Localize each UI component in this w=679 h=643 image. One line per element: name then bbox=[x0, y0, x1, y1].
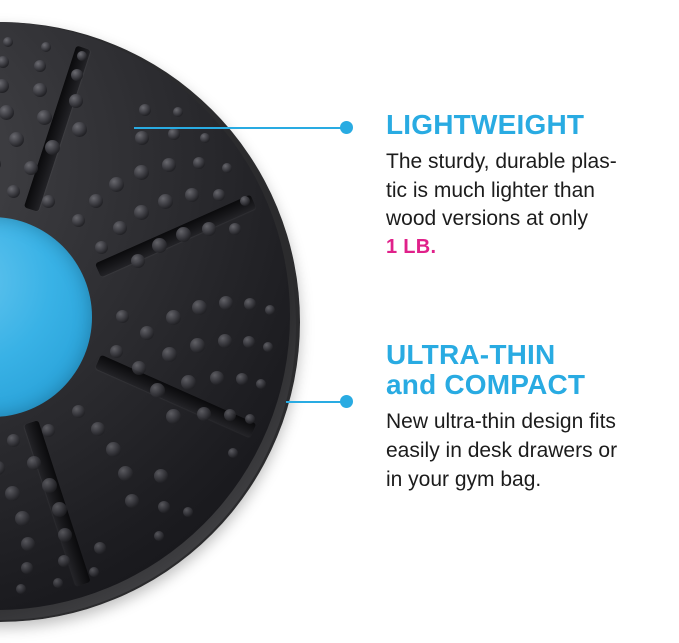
board-nub bbox=[24, 161, 38, 175]
callout-body-ultrathin: New ultra-thin design fits easily in des… bbox=[386, 408, 678, 494]
board-nub bbox=[256, 379, 266, 389]
board-nub bbox=[210, 371, 224, 385]
board-nub bbox=[125, 494, 139, 508]
board-nub bbox=[69, 94, 83, 108]
board-nub bbox=[202, 222, 216, 236]
board-nub bbox=[0, 157, 1, 171]
board-nub bbox=[0, 105, 14, 120]
board-center-dome bbox=[0, 217, 92, 417]
board-nub bbox=[139, 104, 151, 116]
board-nub bbox=[244, 298, 256, 310]
balance-board-image bbox=[0, 22, 300, 622]
board-nub bbox=[219, 296, 233, 310]
board-nub bbox=[106, 442, 121, 457]
board-nub bbox=[9, 132, 24, 147]
board-nub bbox=[181, 375, 196, 390]
board-nub bbox=[240, 196, 250, 206]
board-nub bbox=[228, 448, 238, 458]
callout-heading-ultrathin-line1: ULTRA-THIN bbox=[386, 339, 555, 370]
board-nub bbox=[0, 56, 9, 68]
board-nub bbox=[42, 195, 55, 208]
board-nub bbox=[166, 310, 181, 325]
board-nub bbox=[229, 223, 241, 235]
board-nub bbox=[176, 227, 191, 242]
board-nub bbox=[213, 189, 225, 201]
board-nub bbox=[58, 555, 70, 567]
board-nub bbox=[218, 334, 232, 348]
board-nub bbox=[192, 300, 207, 315]
board-nub bbox=[21, 562, 33, 574]
board-nub bbox=[7, 434, 20, 447]
board-nub bbox=[15, 511, 30, 526]
board-nub bbox=[53, 578, 63, 588]
board-nub bbox=[116, 310, 129, 323]
board-nub bbox=[131, 254, 145, 268]
board-nub bbox=[166, 409, 181, 424]
board-nub bbox=[197, 407, 211, 421]
board-groove bbox=[95, 355, 256, 438]
board-nub bbox=[265, 305, 275, 315]
board-nub bbox=[89, 567, 99, 577]
board-nub bbox=[134, 205, 149, 220]
board-nub bbox=[168, 128, 180, 140]
board-nub bbox=[94, 542, 106, 554]
board-nub bbox=[72, 214, 85, 227]
board-nub bbox=[34, 60, 46, 72]
board-nub bbox=[72, 122, 87, 137]
board-nub bbox=[193, 157, 205, 169]
callout-dot-ultrathin bbox=[340, 395, 353, 408]
board-nub bbox=[236, 373, 248, 385]
callout-ultrathin: ULTRA-THIN and COMPACT New ultra-thin de… bbox=[386, 340, 678, 494]
board-nub bbox=[3, 37, 13, 47]
board-nub bbox=[132, 361, 146, 375]
board-nub bbox=[89, 194, 103, 208]
board-nub bbox=[91, 422, 105, 436]
callout-body-lightweight: The sturdy, durable plas- tic is much li… bbox=[386, 148, 678, 234]
board-nub bbox=[118, 466, 133, 481]
board-nub bbox=[77, 51, 87, 61]
board-nub bbox=[158, 501, 170, 513]
callout-heading-lightweight: LIGHTWEIGHT bbox=[386, 110, 678, 140]
board-nub bbox=[0, 461, 5, 475]
callout-emphasis-weight: 1 LB. bbox=[386, 236, 678, 259]
board-nub bbox=[95, 241, 108, 254]
product-infographic: LIGHTWEIGHT The sturdy, durable plas- ti… bbox=[0, 0, 679, 643]
board-nub bbox=[263, 342, 273, 352]
board-nub bbox=[109, 177, 124, 192]
board-nub bbox=[33, 83, 47, 97]
board-nub bbox=[162, 158, 176, 172]
board-nub bbox=[0, 79, 9, 93]
callout-heading-ultrathin-line2: and COMPACT bbox=[386, 370, 678, 400]
board-nub bbox=[42, 424, 55, 437]
board-nub bbox=[7, 185, 20, 198]
callout-heading-ultrathin: ULTRA-THIN and COMPACT bbox=[386, 340, 678, 400]
board-nub bbox=[110, 345, 123, 358]
board-nub bbox=[190, 338, 205, 353]
board-nub bbox=[140, 326, 154, 340]
board-nub bbox=[134, 165, 149, 180]
callout-line-ultrathin bbox=[286, 401, 346, 403]
board-nub bbox=[113, 221, 127, 235]
board-nub bbox=[173, 107, 183, 117]
callout-dot-lightweight bbox=[340, 121, 353, 134]
board-nub bbox=[135, 131, 149, 145]
board-nub bbox=[162, 347, 177, 362]
board-top-surface bbox=[0, 22, 290, 610]
board-nub bbox=[224, 409, 236, 421]
board-nub bbox=[16, 584, 26, 594]
callout-line-lightweight bbox=[134, 127, 346, 129]
board-nub bbox=[37, 110, 52, 125]
board-nub bbox=[152, 238, 167, 253]
board-nub bbox=[71, 69, 83, 81]
board-nub bbox=[200, 133, 210, 143]
board-nub bbox=[185, 188, 199, 202]
board-nub bbox=[158, 194, 173, 209]
board-nub bbox=[150, 383, 165, 398]
board-nub bbox=[21, 537, 35, 551]
board-nub bbox=[72, 405, 85, 418]
board-nub bbox=[154, 469, 168, 483]
board-nub bbox=[154, 531, 164, 541]
board-nub bbox=[243, 336, 255, 348]
callout-lightweight: LIGHTWEIGHT The sturdy, durable plas- ti… bbox=[386, 110, 678, 259]
board-nub bbox=[42, 478, 57, 493]
board-nub bbox=[5, 486, 20, 501]
board-nub bbox=[45, 140, 60, 155]
board-nub bbox=[183, 507, 193, 517]
board-nub bbox=[222, 163, 232, 173]
board-nub bbox=[41, 42, 51, 52]
